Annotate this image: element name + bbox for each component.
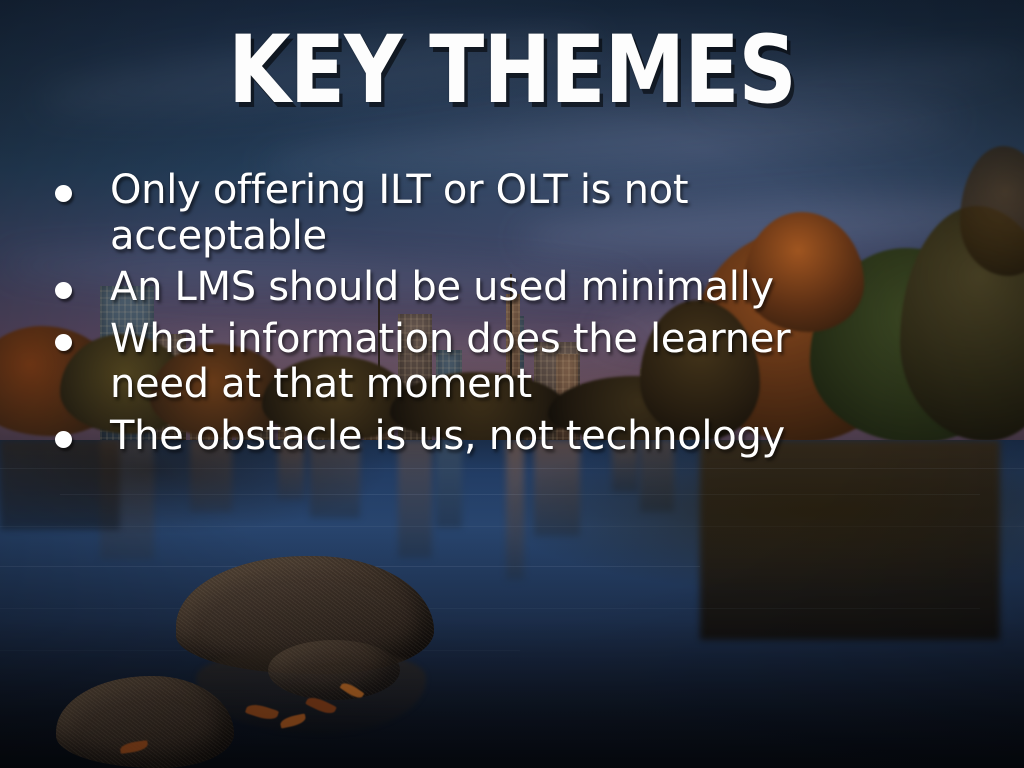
presentation-slide: KEY THEMES Only offering ILT or OLT is n… [0, 0, 1024, 768]
slide-title: KEY THEMES [72, 24, 953, 118]
slide-content: KEY THEMES Only offering ILT or OLT is n… [0, 0, 1024, 768]
bullet-dot-icon [55, 334, 72, 351]
bullet-dot-icon [55, 431, 72, 448]
bullet-dot-icon [55, 185, 72, 202]
list-item: Only offering ILT or OLT is not acceptab… [55, 168, 964, 259]
list-item: An LMS should be used minimally [55, 265, 964, 311]
bullet-dot-icon [55, 282, 72, 299]
bullet-text: An LMS should be used minimally [110, 265, 774, 311]
list-item: What information does the learner need a… [55, 317, 964, 408]
bullet-list: Only offering ILT or OLT is not acceptab… [55, 168, 964, 466]
bullet-text: What information does the learner need a… [110, 317, 870, 408]
bullet-text: Only offering ILT or OLT is not acceptab… [110, 168, 870, 259]
bullet-text: The obstacle is us, not technology [110, 414, 785, 460]
list-item: The obstacle is us, not technology [55, 414, 964, 460]
